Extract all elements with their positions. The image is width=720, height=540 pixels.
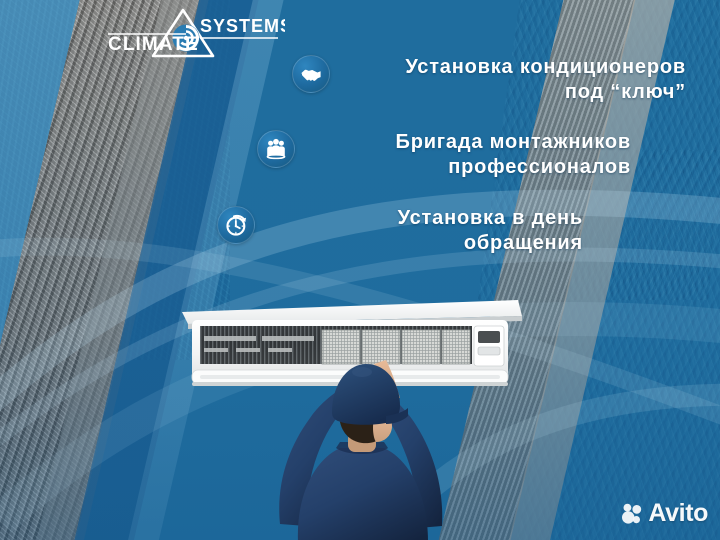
brand-logo[interactable]: CLIMATE SYSTEMS xyxy=(100,4,285,60)
technician-photo xyxy=(236,356,486,540)
group-people-icon xyxy=(264,137,288,161)
avito-label: Avito xyxy=(648,501,708,526)
feature-item-same-day-installation: Установка в день обращения xyxy=(217,206,583,256)
feature-item-turnkey-installation: Установка кондиционеров под “ключ” xyxy=(292,55,686,105)
handshake-badge xyxy=(292,55,330,93)
group-people-badge xyxy=(257,130,295,168)
clock-arrow-icon xyxy=(224,213,249,238)
avito-watermark: Avito xyxy=(621,501,708,526)
logo-primary-text: CLIMATE xyxy=(108,34,199,55)
handshake-icon xyxy=(299,62,323,86)
feature-item-professional-team: Бригада монтажников профессионалов xyxy=(257,130,631,180)
promo-banner: CLIMATE SYSTEMS Установка кондиционеров … xyxy=(0,0,720,540)
feature-text-turnkey-installation: Установка кондиционеров под “ключ” xyxy=(348,55,686,105)
avito-dots-icon xyxy=(621,503,643,525)
clock-badge xyxy=(217,206,255,244)
feature-text-professional-team: Бригада монтажников профессионалов xyxy=(313,130,631,180)
feature-text-same-day-installation: Установка в день обращения xyxy=(273,206,583,256)
logo-secondary-text: SYSTEMS xyxy=(200,16,285,36)
